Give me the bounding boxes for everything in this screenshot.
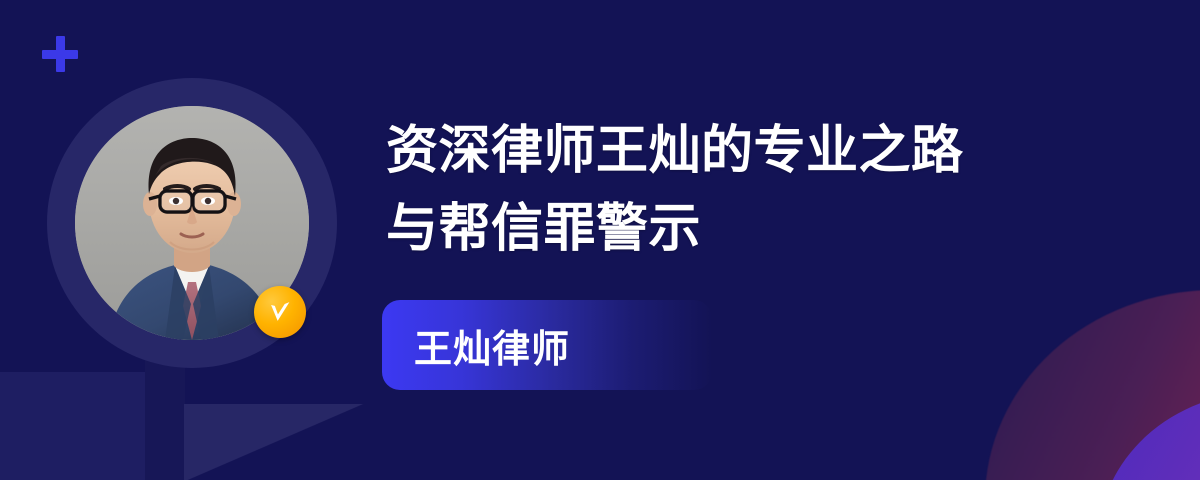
lawyer-name-label: 王灿律师 (414, 318, 570, 373)
avatar[interactable] (47, 78, 337, 368)
lawyer-profile-banner: 资深律师王灿的专业之路 与帮信罪警示 王灿律师 (0, 0, 1200, 480)
page-title: 资深律师王灿的专业之路 与帮信罪警示 (386, 112, 1146, 268)
plus-icon-bar-vertical (56, 36, 65, 72)
decorative-seam (145, 352, 185, 480)
verified-badge-icon (254, 286, 306, 338)
plus-icon (42, 36, 78, 72)
lawyer-name-pill[interactable]: 王灿律师 (382, 300, 712, 390)
decorative-panel-left (0, 372, 145, 480)
headline-block: 资深律师王灿的专业之路 与帮信罪警示 (386, 112, 1146, 268)
decorative-triangle (184, 404, 364, 480)
